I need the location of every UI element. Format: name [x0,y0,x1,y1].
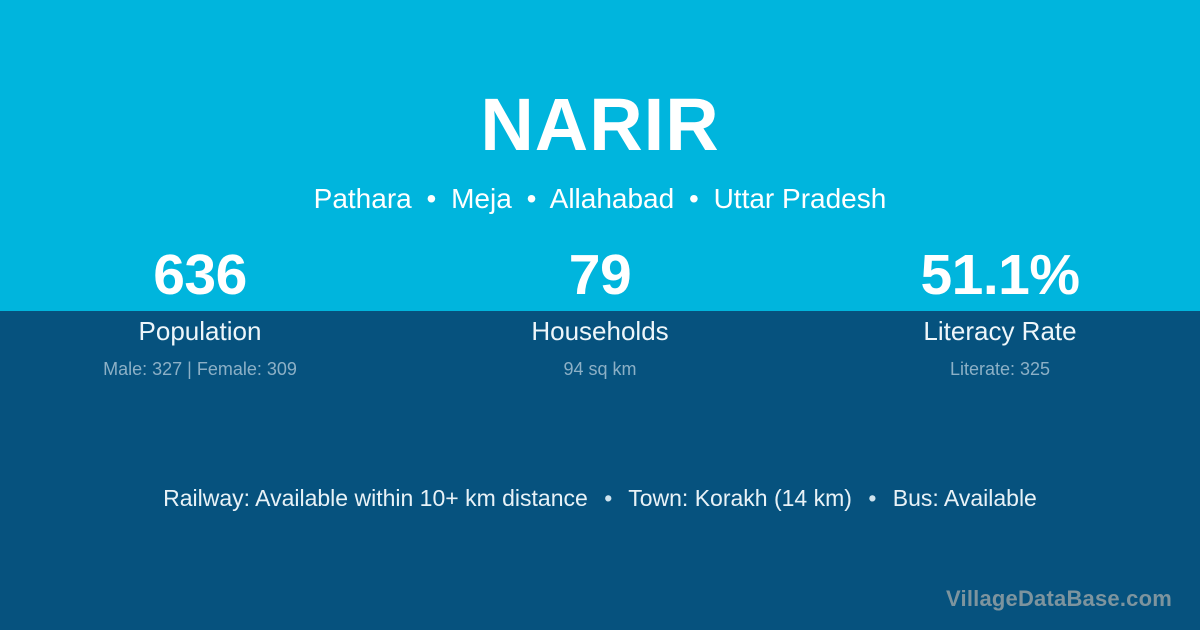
breadcrumb-separator-icon: • [520,182,544,216]
stat-value-literacy-rate: 51.1% [800,240,1200,310]
breadcrumb-item-0: Pathara [314,183,412,214]
stat-value-population: 636 [0,240,400,310]
facility-bus: Bus: Available [893,485,1037,511]
site-brand-watermark: VillageDataBase.com [946,586,1172,612]
facility-railway: Railway: Available within 10+ km distanc… [163,485,588,511]
facility-separator-icon: • [594,484,622,514]
stat-population: 636 Population Male: 327 | Female: 309 [0,240,400,381]
breadcrumb-separator-icon: • [420,182,444,216]
card-content: NARIR Pathara • Meja • Allahabad • Uttar… [0,0,1200,630]
breadcrumb-item-3: Uttar Pradesh [714,183,887,214]
stat-sub-population: Male: 327 | Female: 309 [0,359,400,381]
facility-town: Town: Korakh (14 km) [628,485,852,511]
stat-value-households: 79 [400,240,800,310]
stats-row: 636 Population Male: 327 | Female: 309 7… [0,240,1200,381]
breadcrumb-separator-icon: • [682,182,706,216]
facility-separator-icon: • [858,484,886,514]
stat-sub-literacy-rate: Literate: 325 [800,359,1200,381]
stat-sub-households: 94 sq km [400,359,800,381]
page-title: NARIR [0,88,1200,162]
breadcrumb: Pathara • Meja • Allahabad • Uttar Prade… [0,182,1200,216]
breadcrumb-item-2: Allahabad [550,183,675,214]
stat-label-literacy-rate: Literacy Rate [800,316,1200,347]
stat-label-population: Population [0,316,400,347]
stat-households: 79 Households 94 sq km [400,240,800,381]
facilities-line: Railway: Available within 10+ km distanc… [0,484,1200,514]
breadcrumb-item-1: Meja [451,183,512,214]
village-info-card: NARIR Pathara • Meja • Allahabad • Uttar… [0,0,1200,630]
stat-literacy-rate: 51.1% Literacy Rate Literate: 325 [800,240,1200,381]
stat-label-households: Households [400,316,800,347]
